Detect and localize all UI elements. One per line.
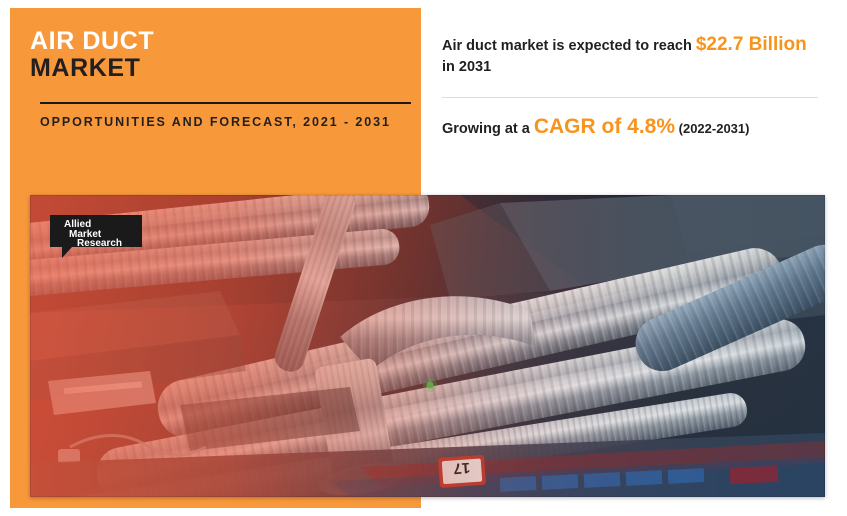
- stat-cagr: Growing at a CAGR of 4.8% (2022-2031): [442, 116, 818, 140]
- stat-cagr-prefix: Growing at a: [442, 121, 534, 137]
- report-title-line1: AIR DUCT: [30, 28, 410, 54]
- stats-divider: [442, 97, 818, 98]
- stat-cagr-period: (2022-2031): [675, 121, 749, 136]
- report-title: AIR DUCT MARKET: [30, 28, 410, 82]
- report-subtitle: OPPORTUNITIES AND FORECAST, 2021 - 2031: [40, 113, 415, 131]
- stat-market-size: Air duct market is expected to reach $22…: [442, 34, 818, 78]
- stats-panel: Air duct market is expected to reach $22…: [421, 8, 838, 183]
- allied-market-research-logo-icon: Allied Market Research: [48, 213, 144, 261]
- stat-cagr-value: CAGR of 4.8%: [534, 115, 675, 138]
- infographic-canvas: AIR DUCT MARKET OPPORTUNITIES AND FORECA…: [0, 0, 847, 516]
- stat-market-size-prefix: Air duct market is expected to reach: [442, 38, 696, 54]
- stat-market-size-suffix: in 2031: [442, 59, 491, 75]
- title-divider: [40, 102, 411, 104]
- hero-photo: 17 Allied Market: [30, 195, 825, 497]
- stat-market-size-value: $22.7 Billion: [696, 34, 807, 55]
- watermark-line-3: Research: [77, 238, 122, 249]
- allied-market-research-watermark: Allied Market Research: [48, 213, 144, 261]
- report-title-line2: MARKET: [30, 54, 410, 82]
- hero-photo-artwork: 17: [30, 195, 825, 497]
